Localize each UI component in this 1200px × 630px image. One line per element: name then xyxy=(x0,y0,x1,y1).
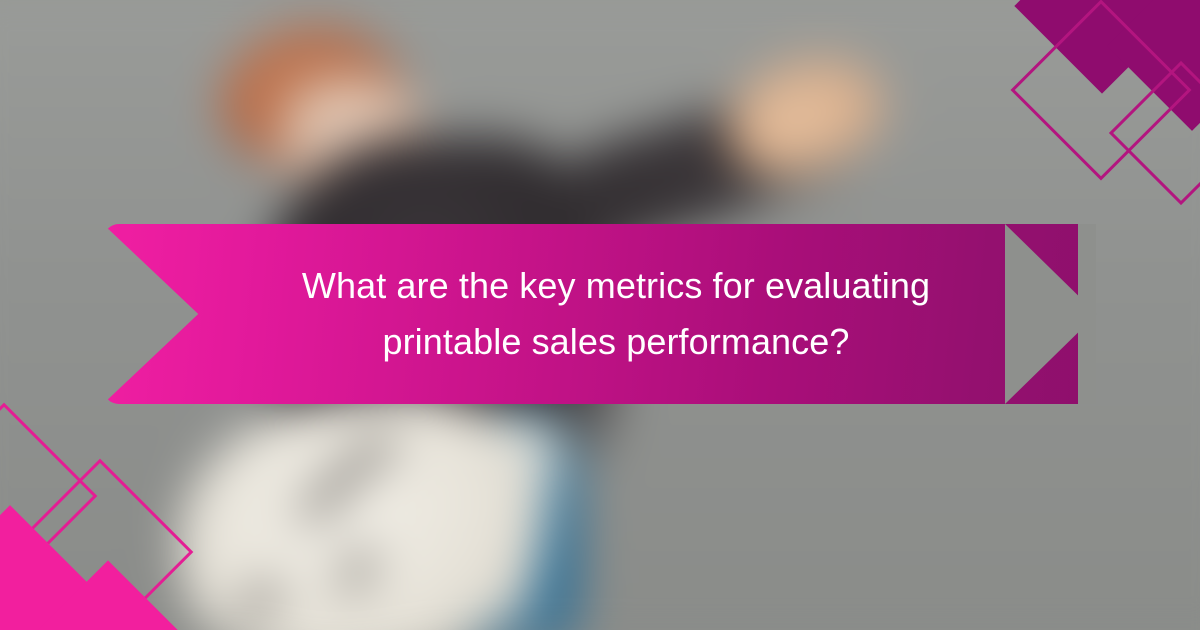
headline-banner: What are the key metrics for evaluating … xyxy=(103,224,1095,404)
banner-edge-right xyxy=(1078,224,1096,404)
social-card: What are the key metrics for evaluating … xyxy=(0,0,1200,630)
headline-text: What are the key metrics for evaluating … xyxy=(236,258,996,370)
